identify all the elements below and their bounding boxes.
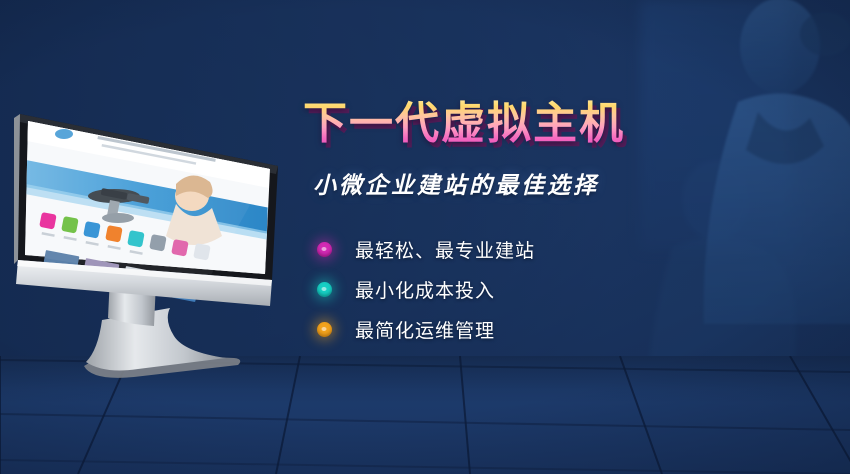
list-item: 最轻松、最专业建站 xyxy=(307,230,733,270)
magenta-dot-icon xyxy=(307,233,341,267)
orange-dot-icon xyxy=(307,313,341,347)
promo-banner: 下一代虚拟主机 下一代虚拟主机 小微企业建站的最佳选择 最轻松、最专业建站 最小… xyxy=(0,0,850,474)
list-item: 最简化运维管理 xyxy=(307,310,733,350)
teal-dot-icon xyxy=(307,273,341,307)
list-item: 最小化成本投入 xyxy=(307,270,733,310)
monitor-illustration xyxy=(6,84,296,384)
banner-title: 下一代虚拟主机 下一代虚拟主机 xyxy=(303,100,733,148)
feature-label: 最小化成本投入 xyxy=(355,276,495,303)
feature-label: 最简化运维管理 xyxy=(355,316,495,343)
feature-label: 最轻松、最专业建站 xyxy=(355,236,535,263)
banner-copy: 下一代虚拟主机 下一代虚拟主机 小微企业建站的最佳选择 最轻松、最专业建站 最小… xyxy=(303,100,733,366)
banner-subtitle: 小微企业建站的最佳选择 xyxy=(313,166,733,200)
banner-title-text: 下一代虚拟主机 xyxy=(303,98,625,149)
feature-list: 最轻松、最专业建站 最小化成本投入 最简化运维管理 xyxy=(307,230,733,350)
